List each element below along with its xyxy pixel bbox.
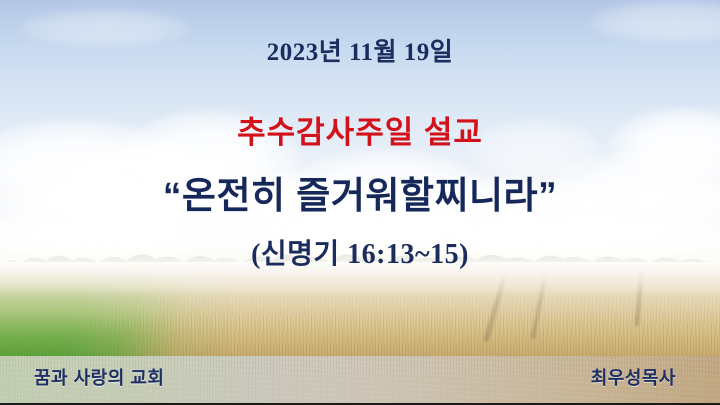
slide-text-block: 2023년 11월 19일 추수감사주일 설교 “온전히 즐거워할찌니라” (신… <box>0 0 720 405</box>
sermon-title: “온전히 즐거워할찌니라” <box>0 165 720 219</box>
sermon-title-slide: 꿈과 사랑의 교회 최우성목사 2023년 11월 19일 추수감사주일 설교 … <box>0 0 720 405</box>
sermon-occasion-label: 추수감사주일 설교 <box>0 107 720 152</box>
scripture-reference: (신명기 16:13~15) <box>0 232 720 272</box>
service-date: 2023년 11월 19일 <box>0 32 720 68</box>
